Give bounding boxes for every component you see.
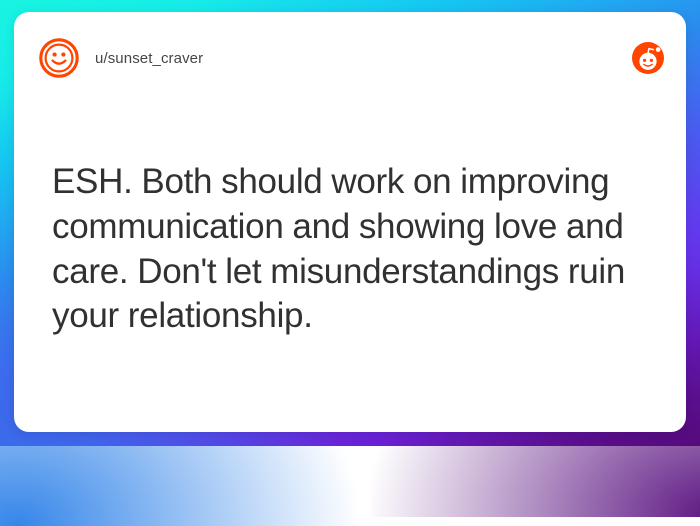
avatar <box>38 37 80 79</box>
post-header: u/sunset_craver <box>14 12 686 104</box>
reddit-post-card: u/sunset_craver ESH. Both should work on… <box>14 12 686 432</box>
reddit-snoo-icon <box>632 42 664 74</box>
brand-logo <box>632 42 664 74</box>
smiley-face-icon <box>38 37 80 79</box>
post-body: ESH. Both should work on improving commu… <box>52 160 652 339</box>
username-label: u/sunset_craver <box>95 50 203 67</box>
screenshot-canvas: u/sunset_craver ESH. Both should work on… <box>0 0 700 446</box>
post-text: ESH. Both should work on improving commu… <box>52 160 652 339</box>
